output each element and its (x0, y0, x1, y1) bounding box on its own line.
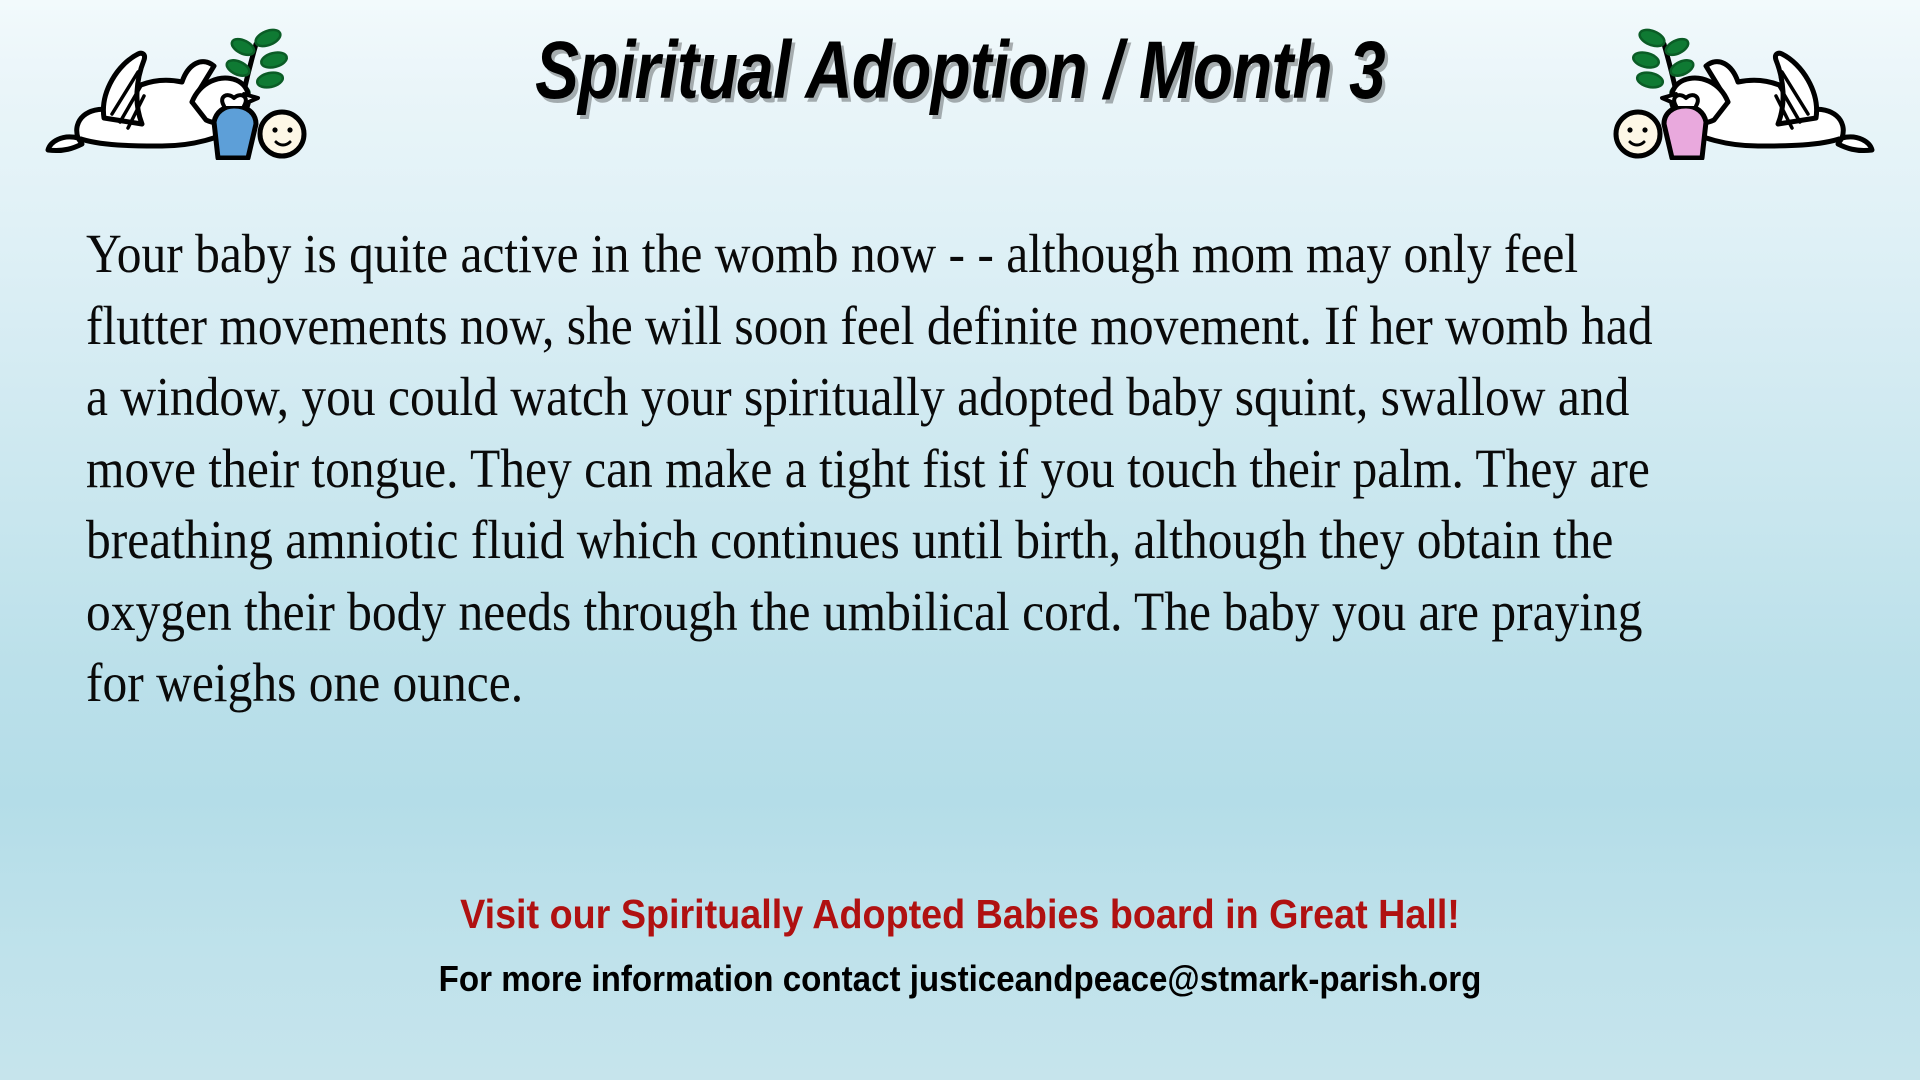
dove-carrying-pink-bundle-icon (1578, 10, 1878, 160)
spiritual-adoption-poster: Spiritual Adoption / Month 3 (0, 0, 1920, 1080)
contact-text: For more information contact justiceandp… (77, 957, 1843, 1000)
page-title: Spiritual Adoption / Month 3 (192, 28, 1728, 114)
body-paragraph: Your baby is quite active in the womb no… (86, 218, 1683, 719)
cta-text: Visit our Spiritually Adopted Babies boa… (77, 890, 1843, 939)
poster-footer: Visit our Spiritually Adopted Babies boa… (0, 890, 1920, 1000)
poster-header: Spiritual Adoption / Month 3 (0, 0, 1920, 160)
